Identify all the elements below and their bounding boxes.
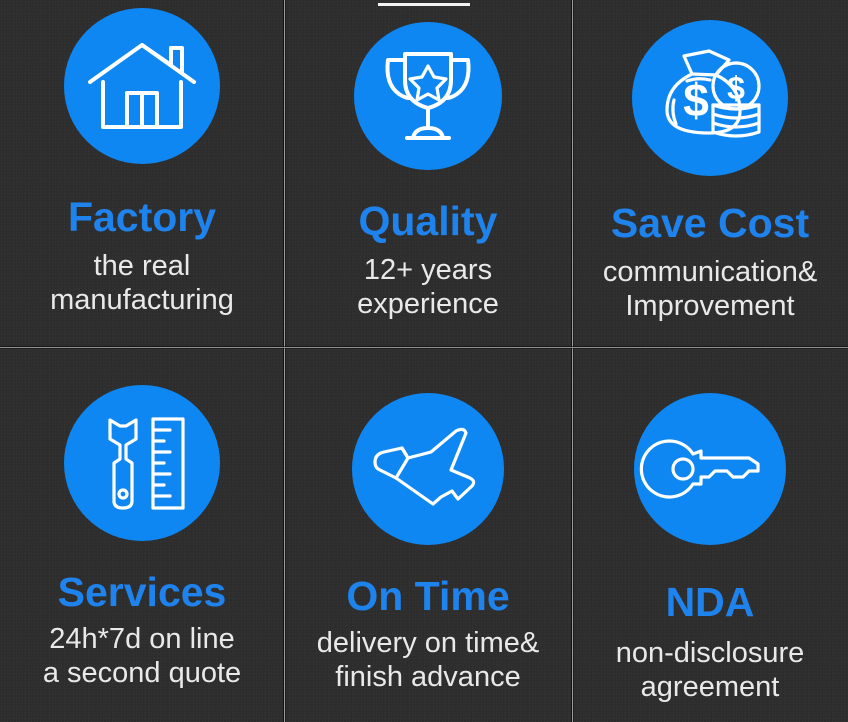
- money-bag-icon: $ $: [632, 20, 788, 176]
- feature-subtitle: non-disclosure agreement: [616, 636, 805, 704]
- feature-title: Factory: [68, 196, 216, 239]
- svg-text:$: $: [727, 70, 745, 106]
- feature-card-quality[interactable]: Quality 12+ years experience: [284, 0, 572, 347]
- feature-subtitle: 12+ years experience: [357, 253, 499, 321]
- feature-card-factory[interactable]: Factory the real manufacturing: [0, 0, 284, 347]
- vertical-divider-2: [571, 0, 574, 722]
- trophy-icon: [354, 22, 502, 170]
- feature-subtitle: delivery on time& finish advance: [317, 626, 539, 694]
- airplane-icon: [352, 393, 504, 545]
- svg-text:$: $: [683, 74, 709, 126]
- feature-subtitle: communication& Improvement: [603, 255, 817, 323]
- feature-title: NDA: [666, 581, 755, 624]
- feature-card-save-cost[interactable]: $ $ Save Cost communication& Improvement: [572, 0, 848, 347]
- house-icon: [64, 8, 220, 164]
- feature-subtitle: 24h*7d on line a second quote: [43, 622, 241, 690]
- feature-card-services[interactable]: Services 24h*7d on line a second quote: [0, 347, 284, 722]
- top-accent-bar: [378, 3, 470, 6]
- horizontal-divider: [0, 346, 848, 349]
- feature-grid: Factory the real manufacturing Quality 1…: [0, 0, 848, 722]
- feature-title: Save Cost: [611, 202, 809, 245]
- wrench-ruler-icon: [64, 385, 220, 541]
- feature-title: Quality: [359, 200, 498, 243]
- feature-title: Services: [58, 571, 227, 614]
- key-icon: [634, 393, 786, 545]
- feature-card-nda[interactable]: NDA non-disclosure agreement: [572, 347, 848, 722]
- feature-title: On Time: [346, 575, 509, 618]
- feature-card-on-time[interactable]: On Time delivery on time& finish advance: [284, 347, 572, 722]
- vertical-divider-1: [283, 0, 286, 722]
- feature-subtitle: the real manufacturing: [50, 249, 234, 317]
- feature-grid-banner: Factory the real manufacturing Quality 1…: [0, 0, 848, 722]
